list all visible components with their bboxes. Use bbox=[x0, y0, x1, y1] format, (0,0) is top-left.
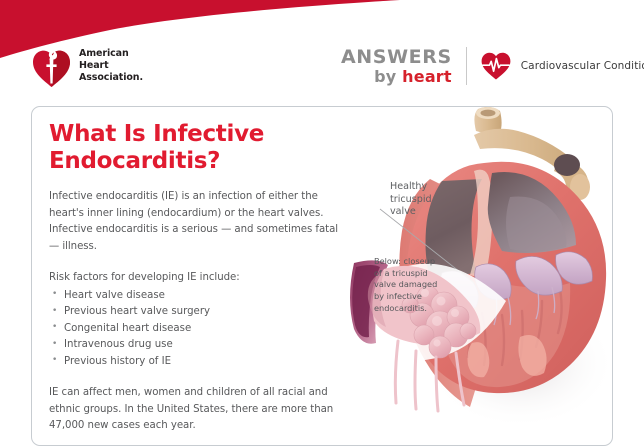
list-item: Previous history of IE bbox=[49, 354, 345, 371]
aha-heart-torch-logo-icon bbox=[31, 44, 71, 88]
heart-word: heart bbox=[402, 67, 452, 86]
category-label: Cardiovascular Conditions bbox=[521, 60, 644, 72]
by-heart-wordmark: by heart bbox=[341, 69, 452, 85]
risk-factors-intro: Risk factors for developing IE include: bbox=[49, 270, 345, 287]
list-item: Previous heart valve surgery bbox=[49, 304, 345, 321]
american-heart-association-logo: American Heart Association. bbox=[31, 44, 143, 88]
content-card: What Is Infective Endocarditis? Infectiv… bbox=[31, 106, 613, 446]
lockup-divider bbox=[466, 47, 467, 85]
heart-anatomy-graphic bbox=[324, 106, 613, 446]
risk-factors-list: Heart valve disease Previous heart valve… bbox=[49, 288, 345, 371]
list-item: Intravenous drug use bbox=[49, 337, 345, 354]
aha-wordmark-text: American Heart Association. bbox=[79, 48, 143, 84]
intro-paragraph: Infective endocarditis (IE) is an infect… bbox=[49, 189, 345, 255]
page-header: American Heart Association. ANSWERS by h… bbox=[0, 0, 644, 104]
answers-by-heart-lockup: ANSWERS by heart Cardiovascular Conditio… bbox=[341, 47, 644, 85]
risk-factors-block: Risk factors for developing IE include: … bbox=[49, 270, 345, 370]
list-item: Heart valve disease bbox=[49, 288, 345, 305]
heart-ekg-icon bbox=[480, 50, 512, 82]
closing-paragraph: IE can affect men, women and children of… bbox=[49, 385, 345, 435]
by-word: by bbox=[374, 67, 402, 86]
callout-healthy-tricuspid-valve: Healthy tricuspid valve bbox=[390, 181, 432, 219]
article-text-column: What Is Infective Endocarditis? Infectiv… bbox=[49, 121, 345, 435]
heart-cross-section-illustration: Healthy tricuspid valve Below: closeup o… bbox=[324, 106, 613, 446]
callout-damaged-valve-closeup: Below: closeup of a tricuspid valve dama… bbox=[374, 256, 437, 314]
page-title: What Is Infective Endocarditis? bbox=[49, 121, 345, 175]
answers-by-heart-text: ANSWERS by heart bbox=[341, 48, 452, 85]
list-item: Congenital heart disease bbox=[49, 321, 345, 338]
answers-wordmark: ANSWERS bbox=[341, 48, 452, 67]
